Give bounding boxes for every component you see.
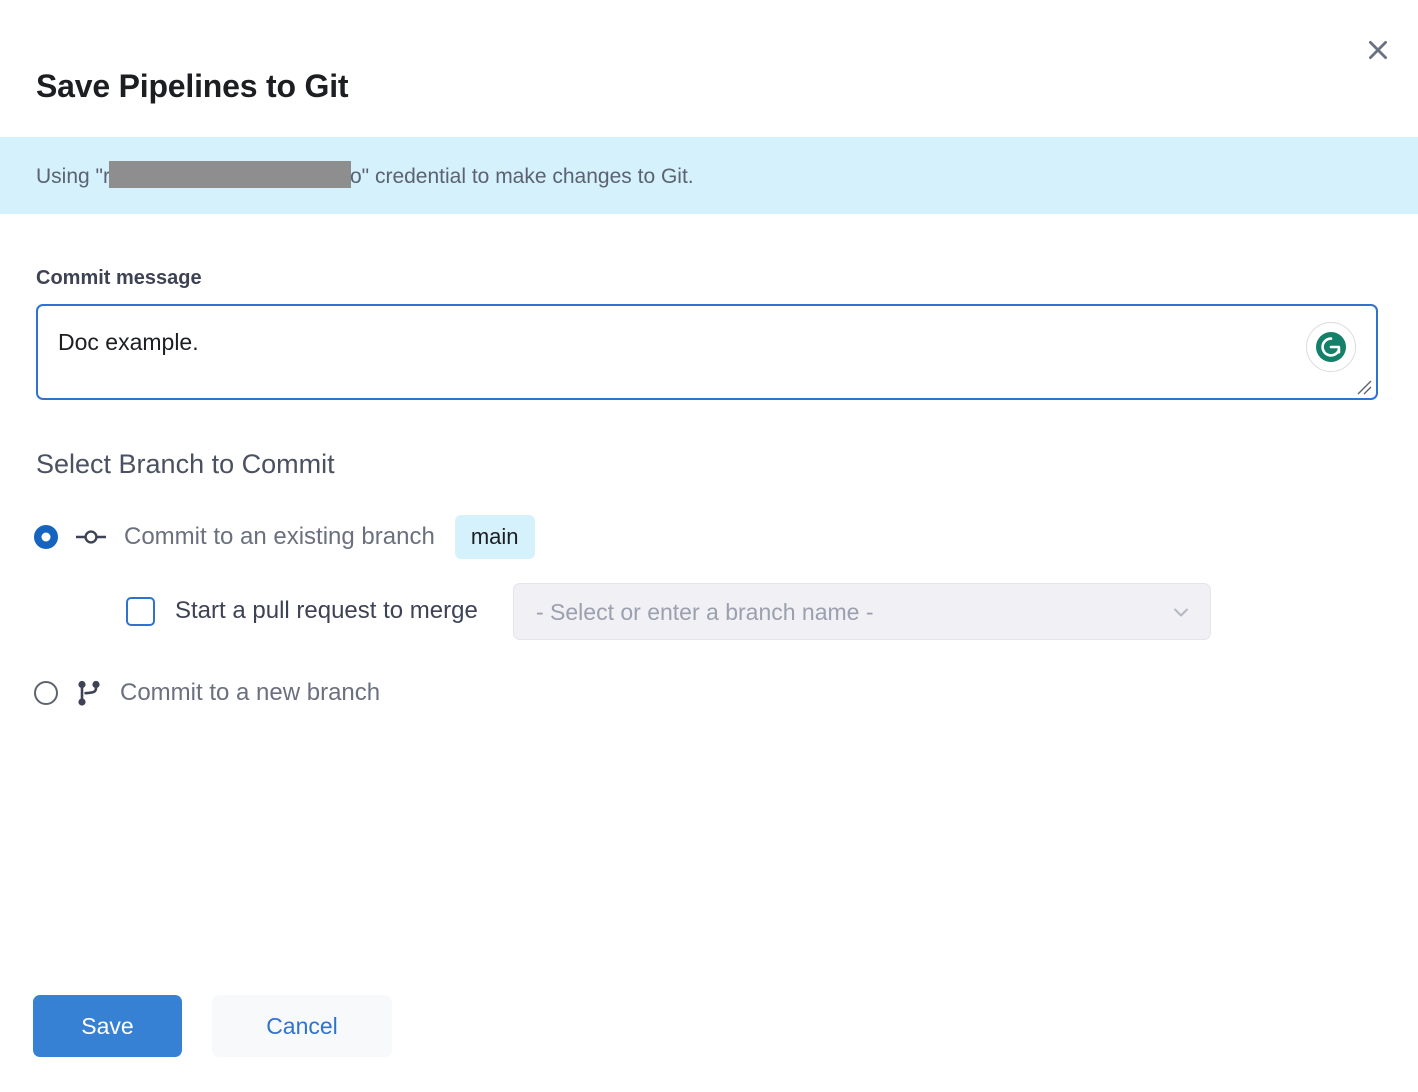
credential-text-after: o" credential to make changes to Git. xyxy=(350,165,694,188)
close-button[interactable] xyxy=(1356,28,1400,72)
merge-target-branch-select[interactable]: - Select or enter a branch name - xyxy=(513,583,1211,640)
option-commit-existing-branch-label[interactable]: Commit to an existing branch xyxy=(124,522,435,552)
git-branch-icon xyxy=(76,678,102,708)
credential-info-banner: Using "ro" credential to make changes to… xyxy=(0,137,1418,214)
save-button[interactable]: Save xyxy=(33,995,182,1057)
option-commit-new-branch[interactable]: Commit to a new branch xyxy=(34,671,380,715)
commit-message-label: Commit message xyxy=(36,265,202,291)
radio-commit-existing-branch[interactable] xyxy=(34,525,58,549)
radio-commit-new-branch[interactable] xyxy=(34,681,58,705)
start-pull-request-checkbox[interactable] xyxy=(126,597,155,626)
pull-request-row[interactable]: Start a pull request to merge xyxy=(126,583,478,639)
cancel-button[interactable]: Cancel xyxy=(212,995,392,1057)
credential-info-text: Using "ro" credential to make changes to… xyxy=(36,161,694,191)
commit-message-input[interactable] xyxy=(38,306,1376,398)
save-pipelines-dialog: Save Pipelines to Git Using "ro" credent… xyxy=(0,0,1418,1092)
chevron-down-icon xyxy=(1170,601,1192,623)
dialog-title: Save Pipelines to Git xyxy=(36,66,348,106)
credential-text-before: Using "r xyxy=(36,165,110,188)
start-pull-request-label[interactable]: Start a pull request to merge xyxy=(175,596,478,626)
redacted-credential-name xyxy=(109,161,351,188)
merge-target-branch-placeholder: - Select or enter a branch name - xyxy=(536,598,1170,626)
select-branch-heading: Select Branch to Commit xyxy=(36,446,335,482)
commit-message-field[interactable] xyxy=(36,304,1378,400)
current-branch-badge: main xyxy=(455,515,535,559)
grammarly-icon[interactable] xyxy=(1306,322,1356,372)
close-icon xyxy=(1365,37,1391,63)
option-commit-new-branch-label[interactable]: Commit to a new branch xyxy=(120,678,380,708)
option-commit-existing-branch[interactable]: Commit to an existing branch main xyxy=(34,515,535,559)
git-commit-icon xyxy=(76,527,106,547)
